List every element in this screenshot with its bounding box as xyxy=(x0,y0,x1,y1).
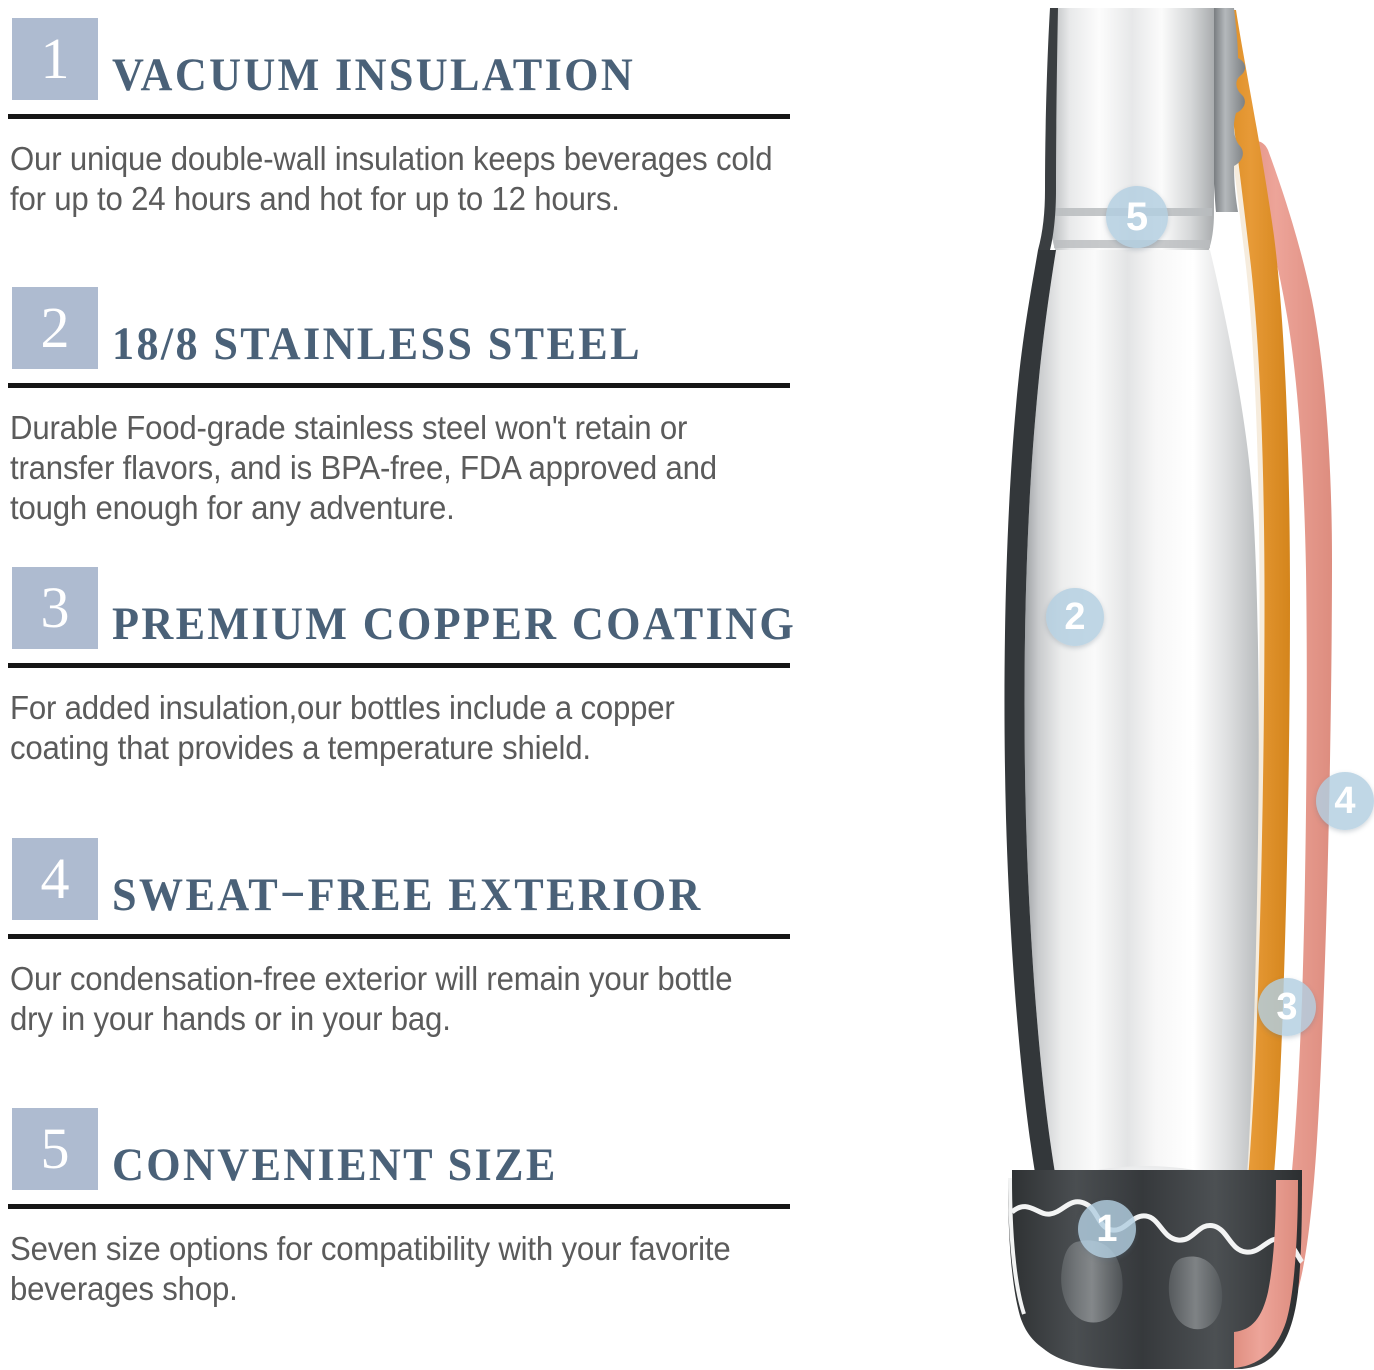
feature-number-badge-1: 1 xyxy=(12,18,98,100)
product-feature-infographic: 1 VACUUM INSULATION Our unique double-wa… xyxy=(0,0,1374,1370)
feature-header-5: 5 CONVENIENT SIZE xyxy=(0,1108,880,1190)
feature-title-3: PREMIUM COPPER COATING xyxy=(112,597,796,651)
callout-badge-3[interactable]: 3 xyxy=(1258,978,1316,1036)
feature-title-2: 18/8 STAINLESS STEEL xyxy=(112,317,642,371)
stainless-steel-inner-wall xyxy=(1024,250,1258,1190)
feature-description-4: Our condensation-free exterior will rema… xyxy=(10,960,773,1040)
feature-title-1: VACUUM INSULATION xyxy=(112,48,635,102)
feature-number-badge-4: 4 xyxy=(12,838,98,920)
feature-number-badge-3: 3 xyxy=(12,567,98,649)
feature-list: 1 VACUUM INSULATION Our unique double-wa… xyxy=(0,0,880,1370)
feature-block-2: 2 18/8 STAINLESS STEEL Durable Food-grad… xyxy=(0,287,880,369)
feature-block-1: 1 VACUUM INSULATION Our unique double-wa… xyxy=(0,18,880,100)
feature-description-3: For added insulation,our bottles include… xyxy=(10,689,773,769)
feature-number-badge-2: 2 xyxy=(12,287,98,369)
feature-description-5: Seven size options for compatibility wit… xyxy=(10,1230,773,1310)
callout-badge-2[interactable]: 2 xyxy=(1046,588,1104,646)
feature-block-4: 4 SWEAT−FREE EXTERIOR Our condensation-f… xyxy=(0,838,880,920)
feature-divider-5 xyxy=(8,1204,790,1209)
feature-header-2: 2 18/8 STAINLESS STEEL xyxy=(0,287,880,369)
callout-badge-1[interactable]: 1 xyxy=(1078,1200,1136,1258)
feature-header-1: 1 VACUUM INSULATION xyxy=(0,18,880,100)
feature-divider-2 xyxy=(8,383,790,388)
callout-badge-4[interactable]: 4 xyxy=(1316,772,1374,830)
feature-divider-4 xyxy=(8,934,790,939)
feature-header-4: 4 SWEAT−FREE EXTERIOR xyxy=(0,838,880,920)
feature-block-3: 3 PREMIUM COPPER COATING For added insul… xyxy=(0,567,880,649)
feature-number-badge-5: 5 xyxy=(12,1108,98,1190)
feature-title-5: CONVENIENT SIZE xyxy=(112,1138,558,1192)
feature-description-1: Our unique double-wall insulation keeps … xyxy=(10,140,773,220)
callout-badge-5[interactable]: 5 xyxy=(1106,186,1168,248)
feature-block-5: 5 CONVENIENT SIZE Seven size options for… xyxy=(0,1108,880,1190)
neck-cut-edge-left xyxy=(1038,8,1058,250)
feature-header-3: 3 PREMIUM COPPER COATING xyxy=(0,567,880,649)
feature-title-4: SWEAT−FREE EXTERIOR xyxy=(112,868,703,922)
feature-description-2: Durable Food-grade stainless steel won't… xyxy=(10,409,773,529)
feature-divider-3 xyxy=(8,663,790,668)
feature-divider-1 xyxy=(8,114,790,119)
